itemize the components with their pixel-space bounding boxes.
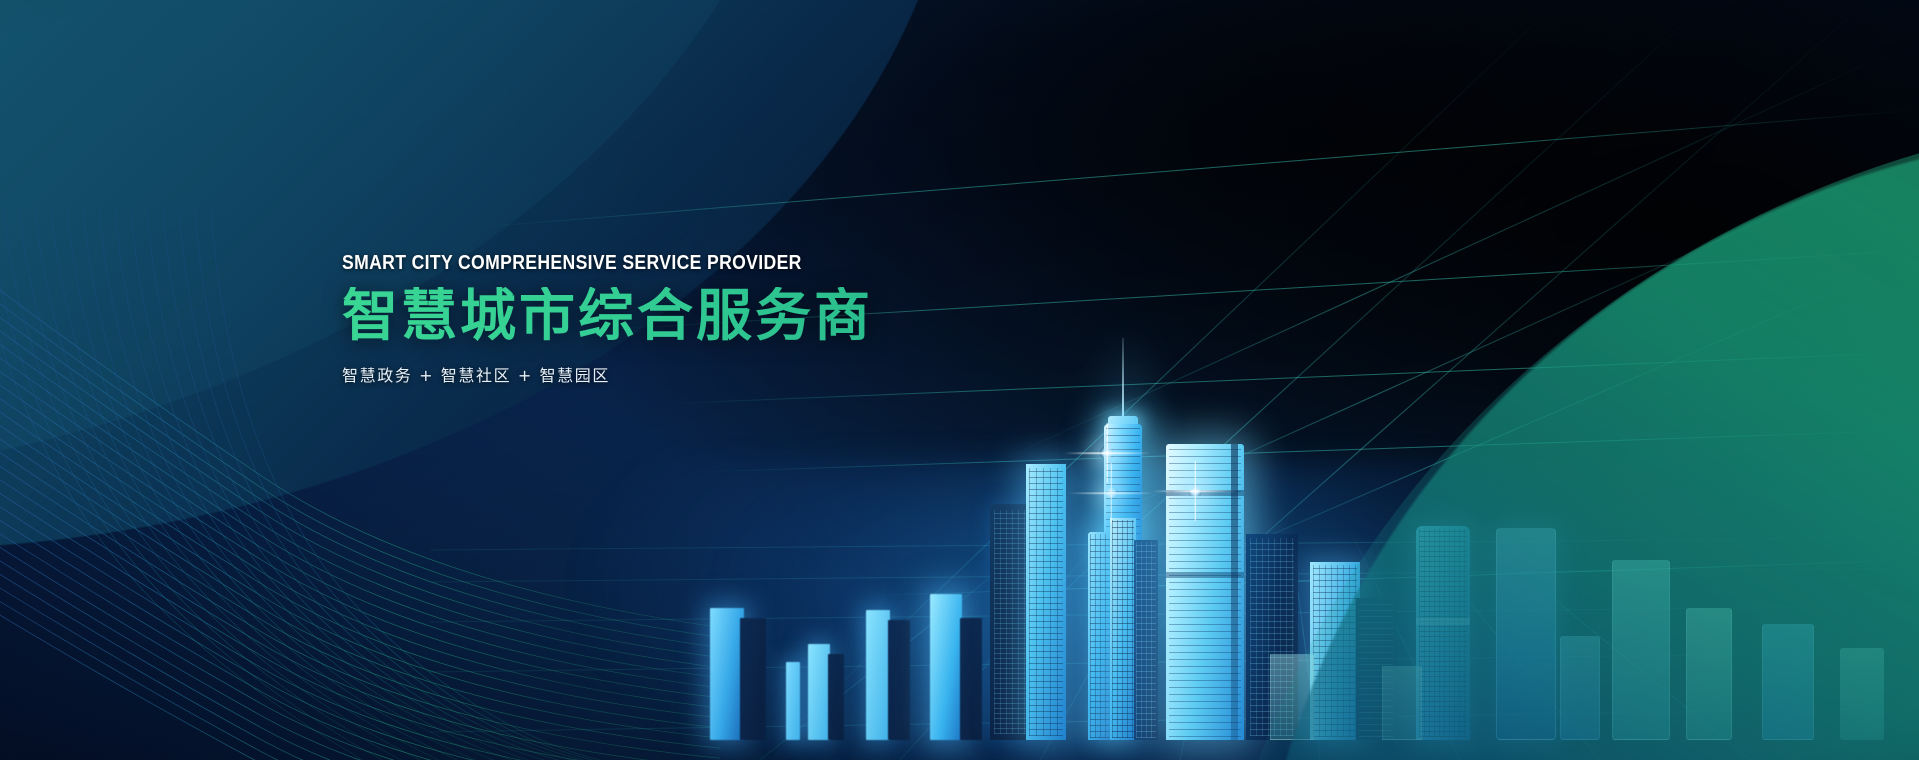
tower-right-shaft (1134, 540, 1158, 740)
slab-block (888, 620, 910, 740)
slab-block (786, 662, 800, 740)
tower-cyan-ribbed (1026, 464, 1066, 740)
slab-block (808, 644, 830, 740)
hero-subline: 智慧政务 + 智慧社区 + 智慧园区 (342, 362, 1062, 386)
hero-headline: 智慧城市综合服务商 (342, 287, 1062, 346)
hero-copy-block: SMART CITY COMPREHENSIVE SERVICE PROVIDE… (342, 252, 1062, 386)
slab-block (930, 594, 962, 740)
hero-eyebrow: SMART CITY COMPREHENSIVE SERVICE PROVIDE… (342, 252, 976, 275)
slab-block (866, 610, 890, 740)
glass-tower (1166, 444, 1244, 740)
slab-block (960, 618, 982, 740)
tower-mid-shaft (1110, 518, 1136, 740)
slab-block (710, 608, 744, 740)
slab-block (740, 618, 766, 740)
spire-tower (1086, 388, 1162, 740)
slab-block (828, 654, 844, 740)
lens-flare-icon (1188, 484, 1202, 498)
lens-flare-icon (1104, 486, 1118, 500)
smart-city-hero-banner: SMART CITY COMPREHENSIVE SERVICE PROVIDE… (0, 0, 1919, 760)
tower-antenna (1122, 338, 1124, 418)
lens-flare-icon (1100, 446, 1114, 460)
